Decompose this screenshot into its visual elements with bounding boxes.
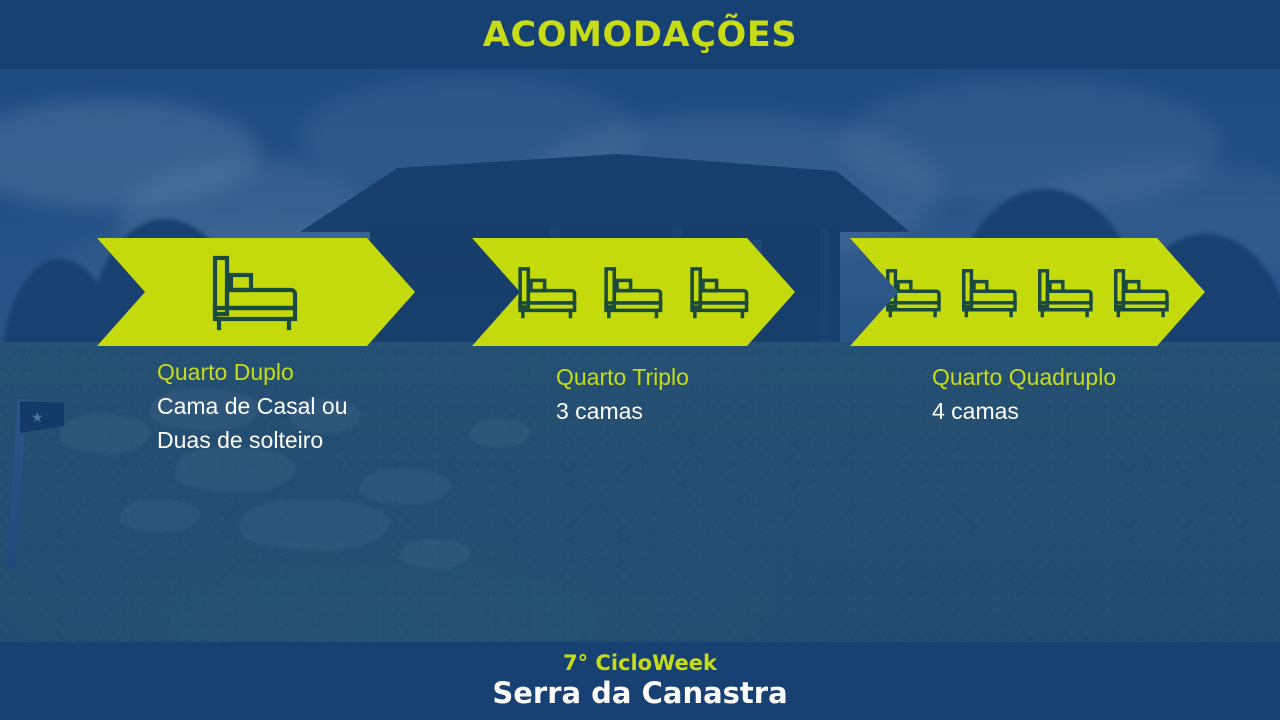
arrow-banner-3[interactable]: [850, 238, 1205, 346]
arrow-banner-2[interactable]: [472, 238, 795, 346]
bed-icon: [1034, 266, 1098, 319]
step-1-text: Quarto Duplo Cama de Casal ou Duas de so…: [157, 356, 348, 457]
step-2-text: Quarto Triplo 3 camas: [556, 361, 689, 428]
bed-icon: [206, 253, 306, 331]
bed-icon: [600, 264, 668, 320]
bed-icon: [958, 266, 1022, 319]
step-3-title: Quarto Quadruplo: [932, 361, 1116, 394]
step-2-title: Quarto Triplo: [556, 361, 689, 394]
footer-band: 7° CicloWeek Serra da Canastra: [0, 642, 1280, 720]
event-edition: 7° CicloWeek: [563, 651, 717, 676]
bed-icon: [514, 264, 582, 320]
step-3-line-1: 4 camas: [932, 394, 1116, 428]
step-1-line-2: Duas de solteiro: [157, 423, 348, 457]
bed-icon: [686, 264, 754, 320]
step-1-title: Quarto Duplo: [157, 356, 348, 389]
slide: ★ ACOMODAÇÕES Quarto Duplo Cama de Casal…: [0, 0, 1280, 720]
step-3-text: Quarto Quadruplo 4 camas: [932, 361, 1116, 428]
event-location: Serra da Canastra: [492, 676, 787, 711]
bed-icon: [882, 266, 946, 319]
arrow-banner-1[interactable]: [97, 238, 415, 346]
accommodation-steps: Quarto Duplo Cama de Casal ou Duas de so…: [0, 0, 1280, 720]
bed-icon: [1110, 266, 1174, 319]
step-2-line-1: 3 camas: [556, 394, 689, 428]
step-1-line-1: Cama de Casal ou: [157, 389, 348, 423]
